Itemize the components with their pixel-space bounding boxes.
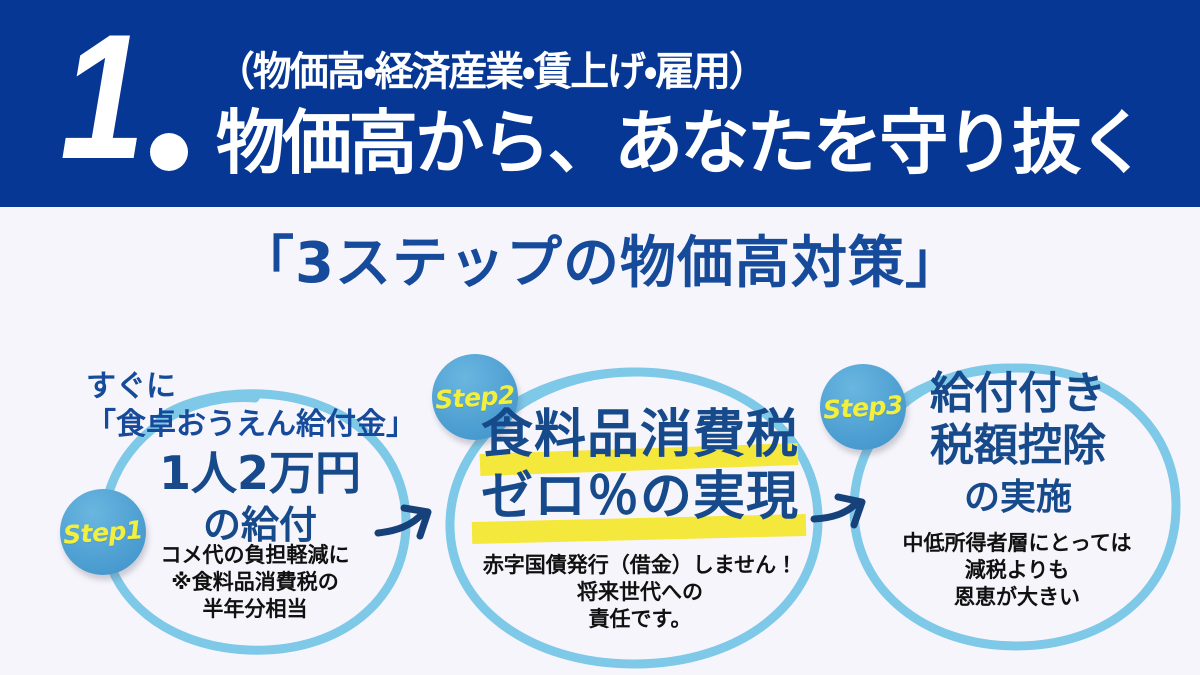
page-subtitle: 「3ステップの物価高対策」 bbox=[0, 232, 1200, 296]
header-title: 物価高から、あなたを守り抜く bbox=[216, 105, 1145, 181]
step3-main-line-2: 税額控除 bbox=[878, 420, 1158, 472]
step1-note-line-3: 半年分相当 bbox=[150, 596, 360, 623]
step1-note-line-2: ※食料品消費税の bbox=[150, 569, 360, 596]
section-number: 1 bbox=[60, 8, 140, 186]
step3-main-line-3: の実施 bbox=[878, 472, 1158, 524]
header-band: 1 （物価高・経済産業・賃上げ・雇用） 物価高から、あなたを守り抜く bbox=[0, 0, 1200, 207]
step2-note-line-3: 責任です。 bbox=[455, 606, 825, 633]
step3-notes: 中低所得者層にとっては 減税よりも 恩恵が大きい bbox=[872, 530, 1162, 611]
bullet-dot-icon bbox=[150, 133, 188, 171]
step3-note-line-3: 恩恵が大きい bbox=[872, 584, 1162, 611]
header-subtitle: （物価高・経済産業・賃上げ・雇用） bbox=[216, 50, 766, 94]
infographic-slide: 1 （物価高・経済産業・賃上げ・雇用） 物価高から、あなたを守り抜く 「3ステッ… bbox=[0, 0, 1200, 675]
step3-note-line-1: 中低所得者層にとっては bbox=[872, 530, 1162, 557]
step2-note-line-1: 赤字国債発行（借金）しません！ bbox=[455, 552, 825, 579]
arrow-step2-to-step3-icon bbox=[814, 497, 862, 525]
step1-lead-line-2: 「食卓おうえん給付金」 bbox=[86, 406, 416, 444]
step1-lead: すぐに 「食卓おうえん給付金」 bbox=[86, 368, 416, 444]
step3-main-line-1: 給付付き bbox=[878, 368, 1158, 420]
step1-main-line-1: 1人2万円 bbox=[140, 447, 380, 499]
step2-notes: 赤字国債発行（借金）しません！ 将来世代への 責任です。 bbox=[455, 552, 825, 633]
step3-main: 給付付き 税額控除 の実施 bbox=[878, 368, 1158, 524]
step-badge-1[interactable]: Step1 bbox=[60, 489, 146, 575]
step2-main-line-1: 食料品消費税 bbox=[465, 404, 815, 466]
arrow-step1-to-step2-icon bbox=[378, 508, 428, 536]
step2-main-line-2: ゼロ％の実現 bbox=[465, 466, 815, 528]
step2-main: 食料品消費税 ゼロ％の実現 bbox=[465, 404, 815, 528]
step1-notes: コメ代の負担軽減に ※食料品消費税の 半年分相当 bbox=[150, 542, 360, 623]
step-badge-1-label: Step1 bbox=[62, 515, 144, 549]
step1-main: 1人2万円 の給付 bbox=[140, 447, 380, 551]
step1-lead-line-1: すぐに bbox=[86, 368, 416, 406]
step1-note-line-1: コメ代の負担軽減に bbox=[150, 542, 360, 569]
step2-note-line-2: 将来世代への bbox=[455, 579, 825, 606]
step3-note-line-2: 減税よりも bbox=[872, 557, 1162, 584]
